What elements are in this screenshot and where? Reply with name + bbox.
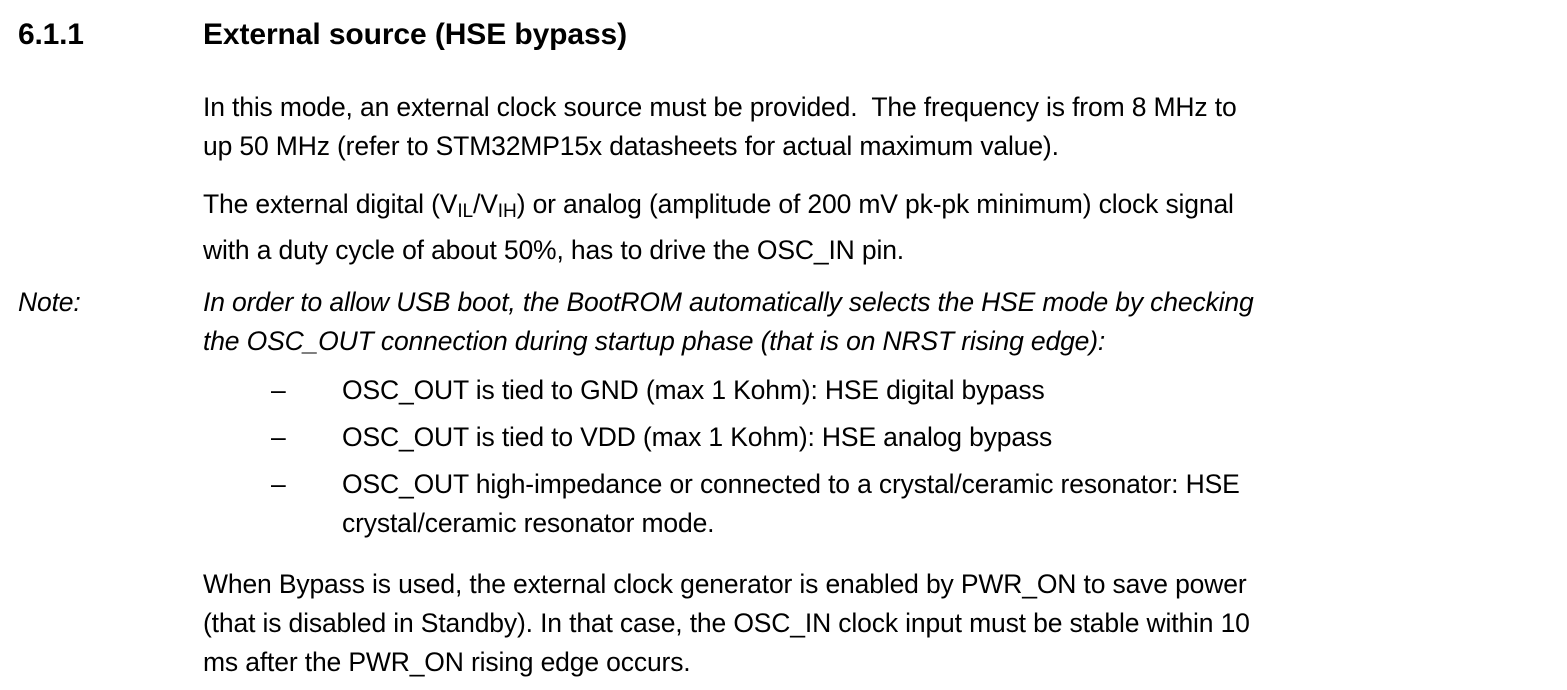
section-title: External source (HSE bypass) <box>203 16 627 54</box>
dash-marker-icon: – <box>0 418 342 457</box>
note-block: Note: In order to allow USB boot, the Bo… <box>0 283 1567 361</box>
paragraph-intro-line-2: up 50 MHz (refer to STM32MP15x datasheet… <box>203 127 1533 166</box>
dash-marker-icon: – <box>0 465 342 504</box>
paragraph-intro: In this mode, an external clock source m… <box>203 88 1533 166</box>
note-label: Note: <box>0 283 203 322</box>
note-body: In order to allow USB boot, the BootROM … <box>203 283 1533 361</box>
list-item: – OSC_OUT is tied to GND (max 1 Kohm): H… <box>0 371 1567 410</box>
list-item: – OSC_OUT high-impedance or connected to… <box>0 465 1567 543</box>
document-page: 6.1.1 External source (HSE bypass) In th… <box>0 0 1567 690</box>
list-item: – OSC_OUT is tied to VDD (max 1 Kohm): H… <box>0 418 1567 457</box>
section-heading: 6.1.1 External source (HSE bypass) <box>0 16 1567 54</box>
text-fragment-post: ) or analog (amplitude of 200 mV pk-pk m… <box>517 189 1234 219</box>
list-item-line-1: OSC_OUT is tied to GND (max 1 Kohm): HSE… <box>342 371 1567 410</box>
list-item-line-1: OSC_OUT is tied to VDD (max 1 Kohm): HSE… <box>342 418 1567 457</box>
dash-list: – OSC_OUT is tied to GND (max 1 Kohm): H… <box>0 371 1567 543</box>
text-fragment-mid: /V <box>473 189 498 219</box>
text-fragment-pre: The external digital (V <box>203 189 457 219</box>
list-item-line-1: OSC_OUT high-impedance or connected to a… <box>342 465 1567 504</box>
list-item-text: OSC_OUT high-impedance or connected to a… <box>342 465 1567 543</box>
paragraph-external-digital: The external digital (VIL/VIH) or analog… <box>203 185 1533 270</box>
subscript-vih: IH <box>498 201 517 222</box>
paragraph-intro-line-1: In this mode, an external clock source m… <box>203 88 1533 127</box>
subscript-vil: IL <box>457 201 473 222</box>
paragraph-bypass-line-2: (that is disabled in Standby). In that c… <box>203 604 1533 643</box>
list-item-line-2: crystal/ceramic resonator mode. <box>342 504 1567 543</box>
section-number: 6.1.1 <box>0 16 203 54</box>
note-line-2: the OSC_OUT connection during startup ph… <box>203 322 1533 361</box>
paragraph-external-digital-line-2: with a duty cycle of about 50%, has to d… <box>203 231 1533 270</box>
paragraph-bypass: When Bypass is used, the external clock … <box>203 565 1533 682</box>
list-item-text: OSC_OUT is tied to VDD (max 1 Kohm): HSE… <box>342 418 1567 457</box>
list-item-text: OSC_OUT is tied to GND (max 1 Kohm): HSE… <box>342 371 1567 410</box>
paragraph-bypass-line-3: ms after the PWR_ON rising edge occurs. <box>203 643 1533 682</box>
note-line-1: In order to allow USB boot, the BootROM … <box>203 283 1533 322</box>
paragraph-bypass-line-1: When Bypass is used, the external clock … <box>203 565 1533 604</box>
paragraph-external-digital-line-1: The external digital (VIL/VIH) or analog… <box>203 185 1533 231</box>
dash-marker-icon: – <box>0 371 342 410</box>
